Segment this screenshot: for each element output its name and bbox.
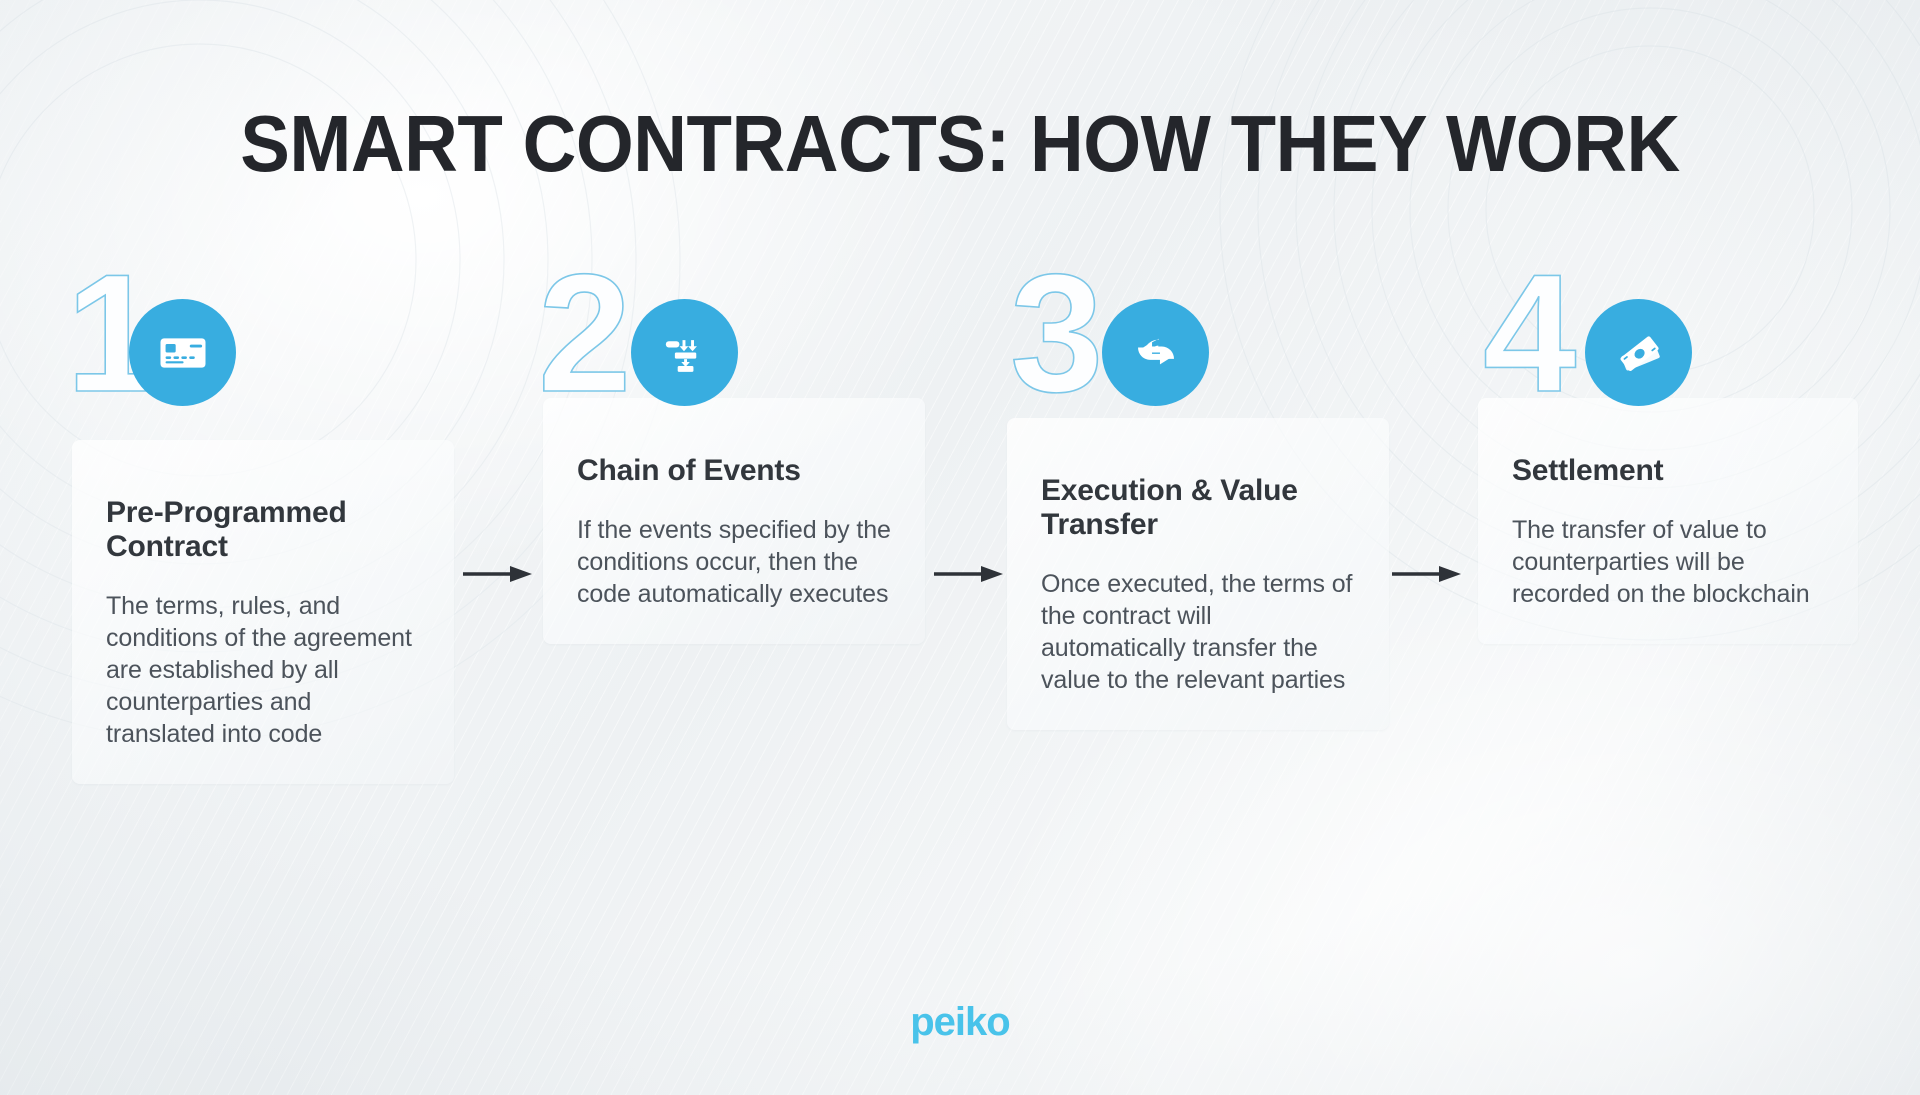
step-card-1: Pre-Programmed Contract The terms, rules… <box>72 440 454 784</box>
step-number-4: 4 <box>1483 265 1570 403</box>
step-card-2: Chain of Events If the events specified … <box>543 398 925 644</box>
step-title-2: Chain of Events <box>577 454 891 488</box>
step-title-4: Settlement <box>1512 454 1824 488</box>
step-body-1: The terms, rules, and conditions of the … <box>106 590 420 750</box>
banknotes-icon <box>1585 299 1692 406</box>
credit-card-icon <box>129 299 236 406</box>
steps-container: 1 Pre-Programmed Contract The terms, rul… <box>0 270 1920 910</box>
flow-merge-icon <box>631 299 738 406</box>
exchange-arrows-icon <box>1102 299 1209 406</box>
brand-logo-text: peiko <box>910 1000 1009 1045</box>
step-body-3: Once executed, the terms of the contract… <box>1041 568 1355 696</box>
step-number-2: 2 <box>538 265 625 403</box>
step-number-3: 3 <box>1010 265 1097 403</box>
page-title: SMART CONTRACTS: HOW THEY WORK <box>67 104 1853 184</box>
arrow-2-to-3 <box>933 563 1005 590</box>
brand-logo: peiko <box>0 1000 1920 1045</box>
step-body-4: The transfer of value to counterparties … <box>1512 514 1824 610</box>
step-body-2: If the events specified by the condition… <box>577 514 891 610</box>
step-card-3: Execution & Value Transfer Once executed… <box>1007 418 1389 730</box>
step-card-4: Settlement The transfer of value to coun… <box>1478 398 1858 644</box>
arrow-3-to-4 <box>1391 563 1463 590</box>
arrow-1-to-2 <box>462 563 534 590</box>
step-title-1: Pre-Programmed Contract <box>106 496 420 564</box>
step-title-3: Execution & Value Transfer <box>1041 474 1355 542</box>
